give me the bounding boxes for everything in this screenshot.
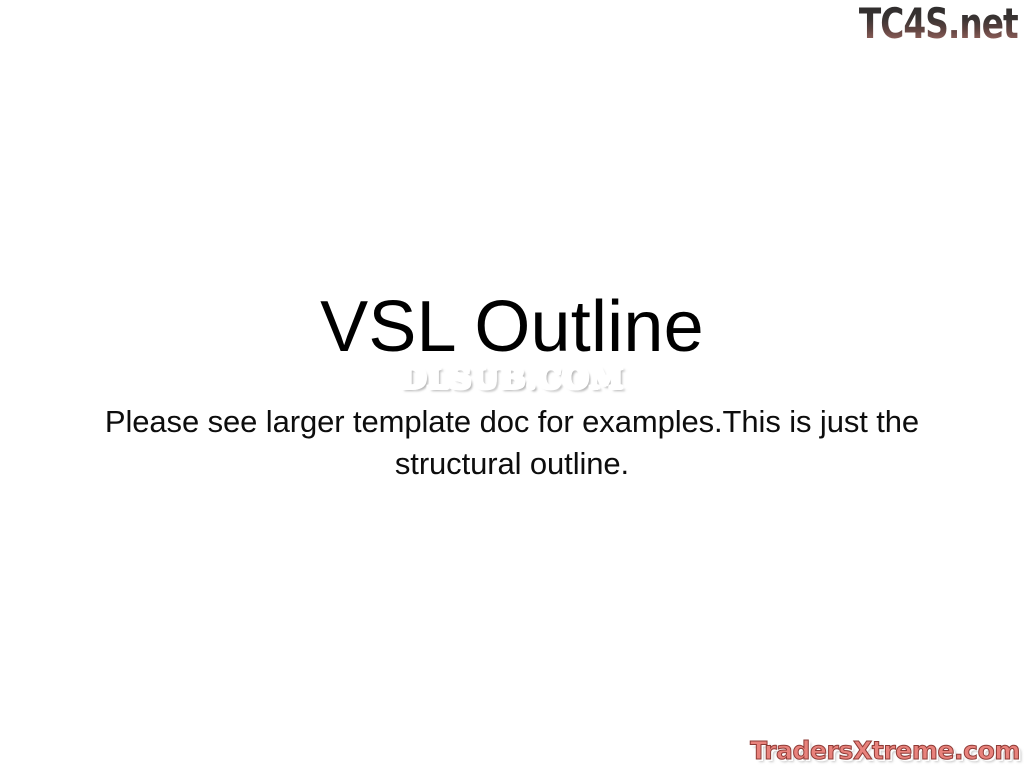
tradersxtreme-watermark: TradersXtreme.com <box>750 737 1020 765</box>
slide-body-text: Please see larger template doc for examp… <box>62 401 962 485</box>
tc4s-watermark: TC4S.net <box>859 2 1018 46</box>
dlsub-watermark: DLSUB.COM <box>0 363 1024 395</box>
dlsub-watermark-label: DLSUB.COM <box>400 363 624 395</box>
presentation-slide: TC4S.net VSL Outline Please see larger t… <box>0 0 1024 768</box>
page-title: VSL Outline <box>0 291 1024 363</box>
